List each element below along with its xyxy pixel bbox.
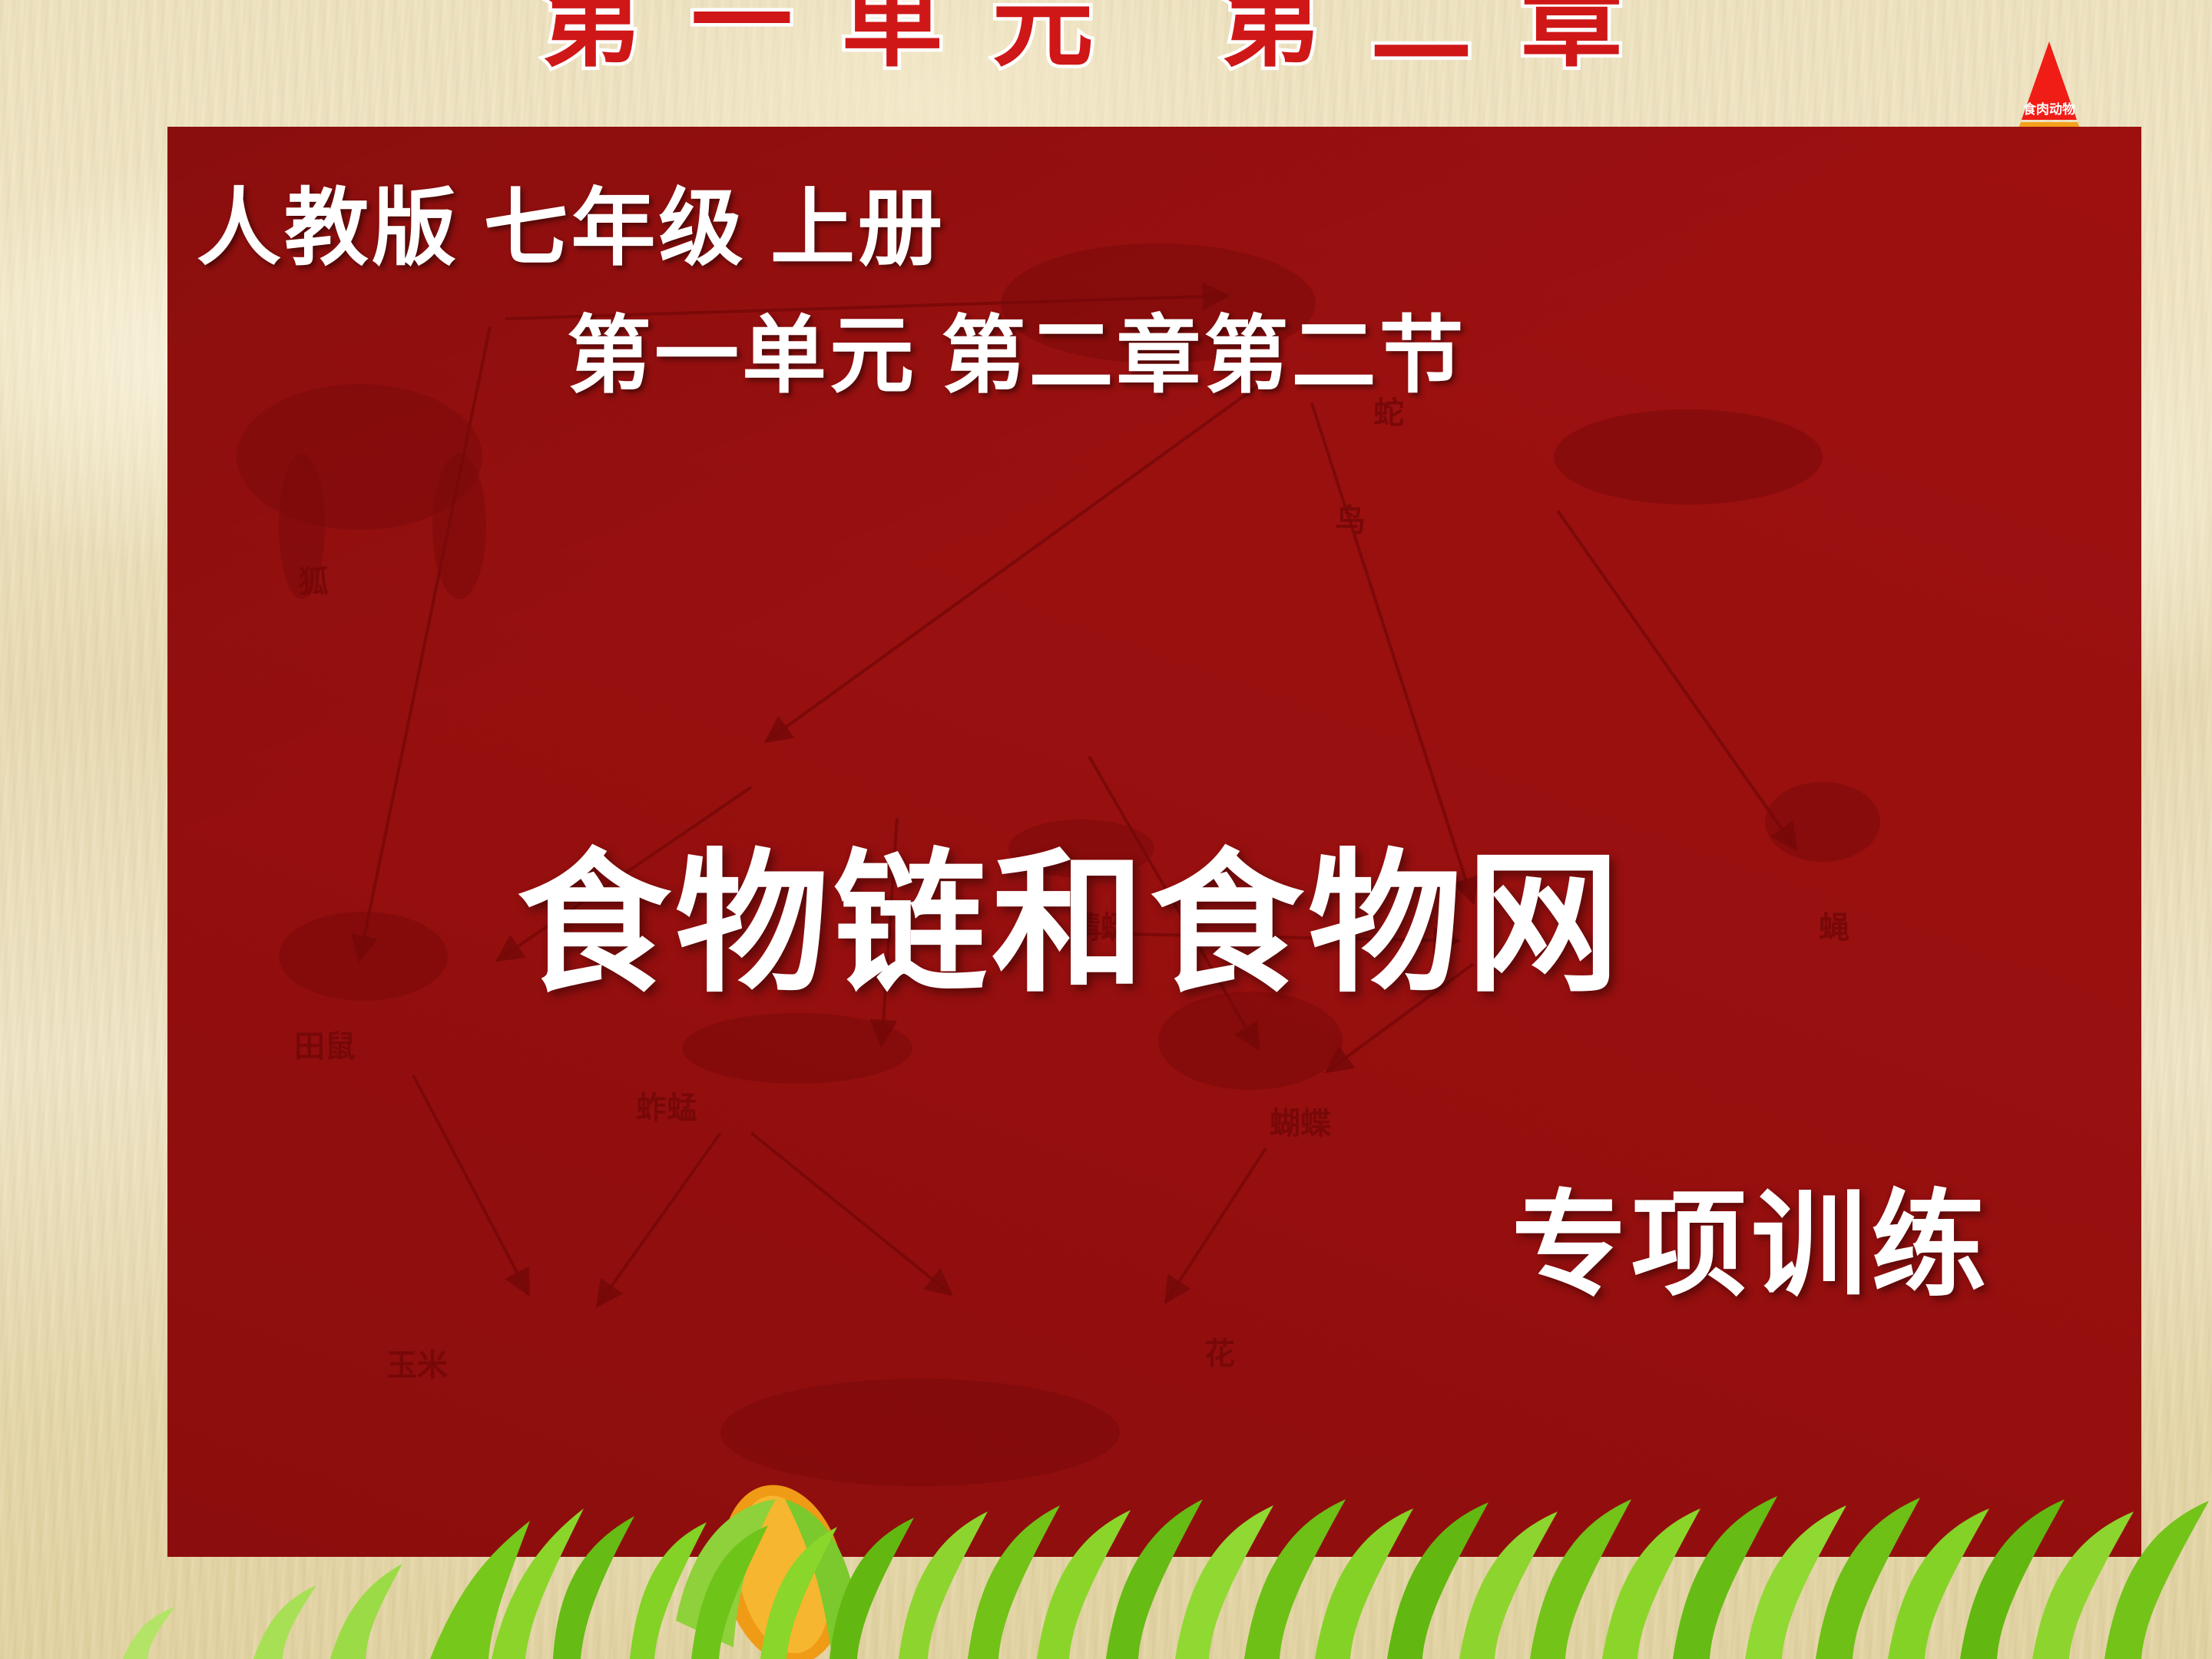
grass-decoration: [0, 1429, 2212, 1659]
top-banner-title: 第一单元 第二章: [0, 0, 2212, 87]
food-web-label-bird: 鸟: [1335, 495, 1366, 540]
edition-line: 人教版 七年级 上册: [197, 159, 945, 282]
unit-line: 第一单元 第二章第二节: [567, 286, 1467, 409]
food-web-label-corn: 玉米: [386, 1340, 448, 1385]
food-web-label-fly: 蝇: [1819, 902, 1849, 947]
content-panel: 狐 蛇 鸟 蜻蜓 蝇 田鼠 蚱蜢 蝴蝶 花 玉米 人教版 七年级 上册 第一单元…: [167, 127, 2141, 1557]
grass-svg: [0, 1429, 2212, 1659]
food-web-label-grasshopper: 蚱蜢: [636, 1083, 697, 1128]
pyramid-label-0: 食肉动物: [2023, 101, 2075, 117]
food-web-label-fox: 狐: [298, 557, 329, 601]
subtitle: 专项训练: [1512, 1152, 1991, 1319]
food-web-label-vole: 田鼠: [294, 1022, 356, 1066]
food-web-label-flower: 花: [1204, 1329, 1235, 1373]
grass-blades: [123, 1496, 2209, 1659]
page-title: 食物链和食物网: [517, 799, 1624, 1022]
food-web-label-butterfly: 蝴蝶: [1270, 1098, 1331, 1143]
slide-canvas: 第一单元 第二章 食肉动物 中级消费者 初级消费者 光合作用生产者 ——动植物食…: [0, 0, 2212, 1659]
